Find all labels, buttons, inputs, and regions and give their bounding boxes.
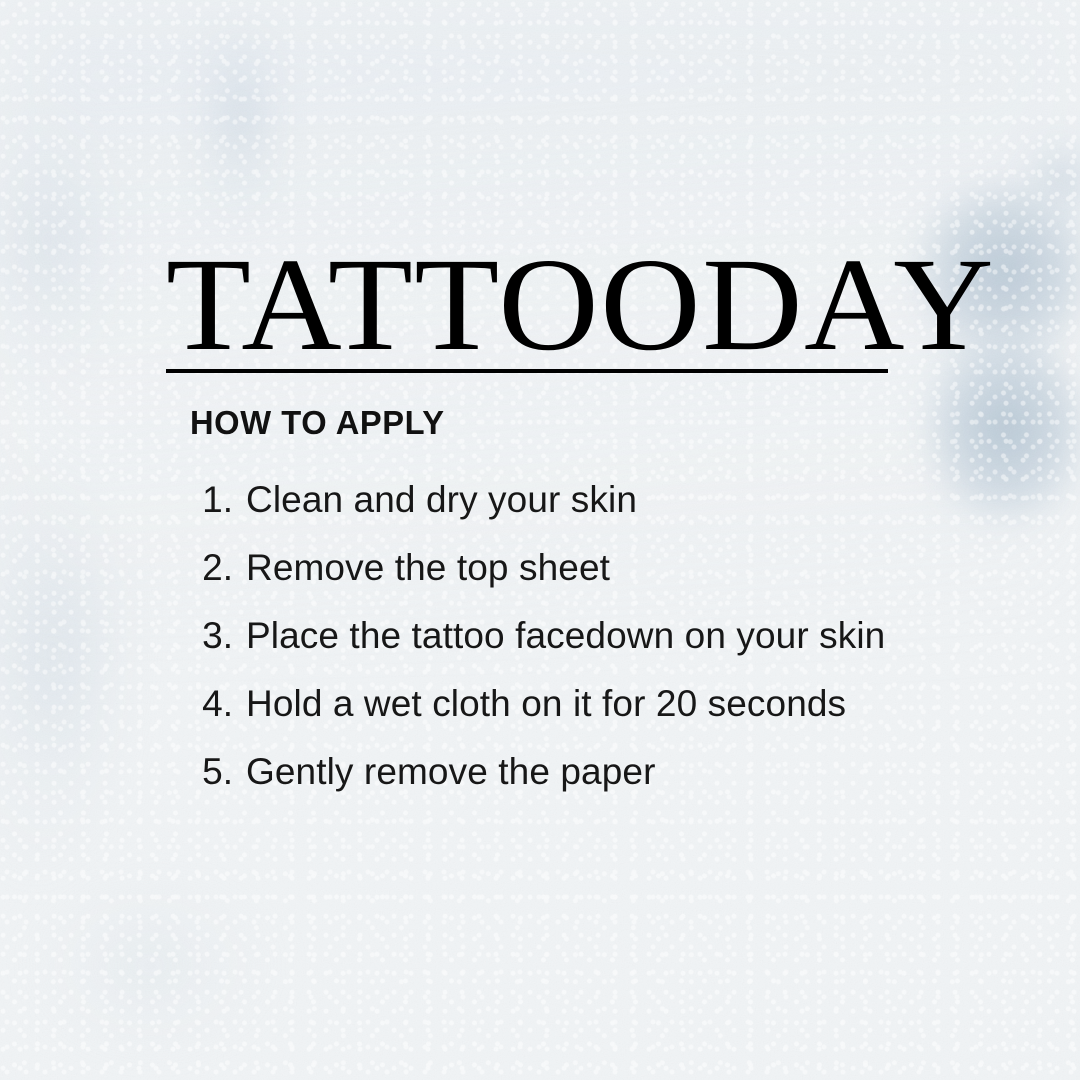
section-heading-how-to-apply: HOW TO APPLY (190, 406, 445, 439)
step-text: Remove the top sheet (246, 534, 610, 602)
step-text: Clean and dry your skin (246, 466, 637, 534)
step-text: Gently remove the paper (246, 738, 656, 806)
list-item: 3. Place the tattoo facedown on your ski… (185, 602, 1015, 670)
list-item: 2. Remove the top sheet (185, 534, 1015, 602)
step-number: 2. (185, 534, 233, 602)
card-content: TATTOODAY HOW TO APPLY 1. Clean and dry … (0, 0, 1080, 1080)
step-number: 3. (185, 602, 233, 670)
step-number: 1. (185, 466, 233, 534)
list-item: 4. Hold a wet cloth on it for 20 seconds (185, 670, 1015, 738)
list-item: 5. Gently remove the paper (185, 738, 1015, 806)
title-divider-rule (166, 369, 888, 373)
brand-title: TATTOODAY (166, 238, 923, 371)
step-number: 4. (185, 670, 233, 738)
instruction-steps-list: 1. Clean and dry your skin 2. Remove the… (185, 466, 1015, 806)
step-text: Hold a wet cloth on it for 20 seconds (246, 670, 846, 738)
list-item: 1. Clean and dry your skin (185, 466, 1015, 534)
step-text: Place the tattoo facedown on your skin (246, 602, 885, 670)
instruction-card: TATTOODAY HOW TO APPLY 1. Clean and dry … (0, 0, 1080, 1080)
step-number: 5. (185, 738, 233, 806)
